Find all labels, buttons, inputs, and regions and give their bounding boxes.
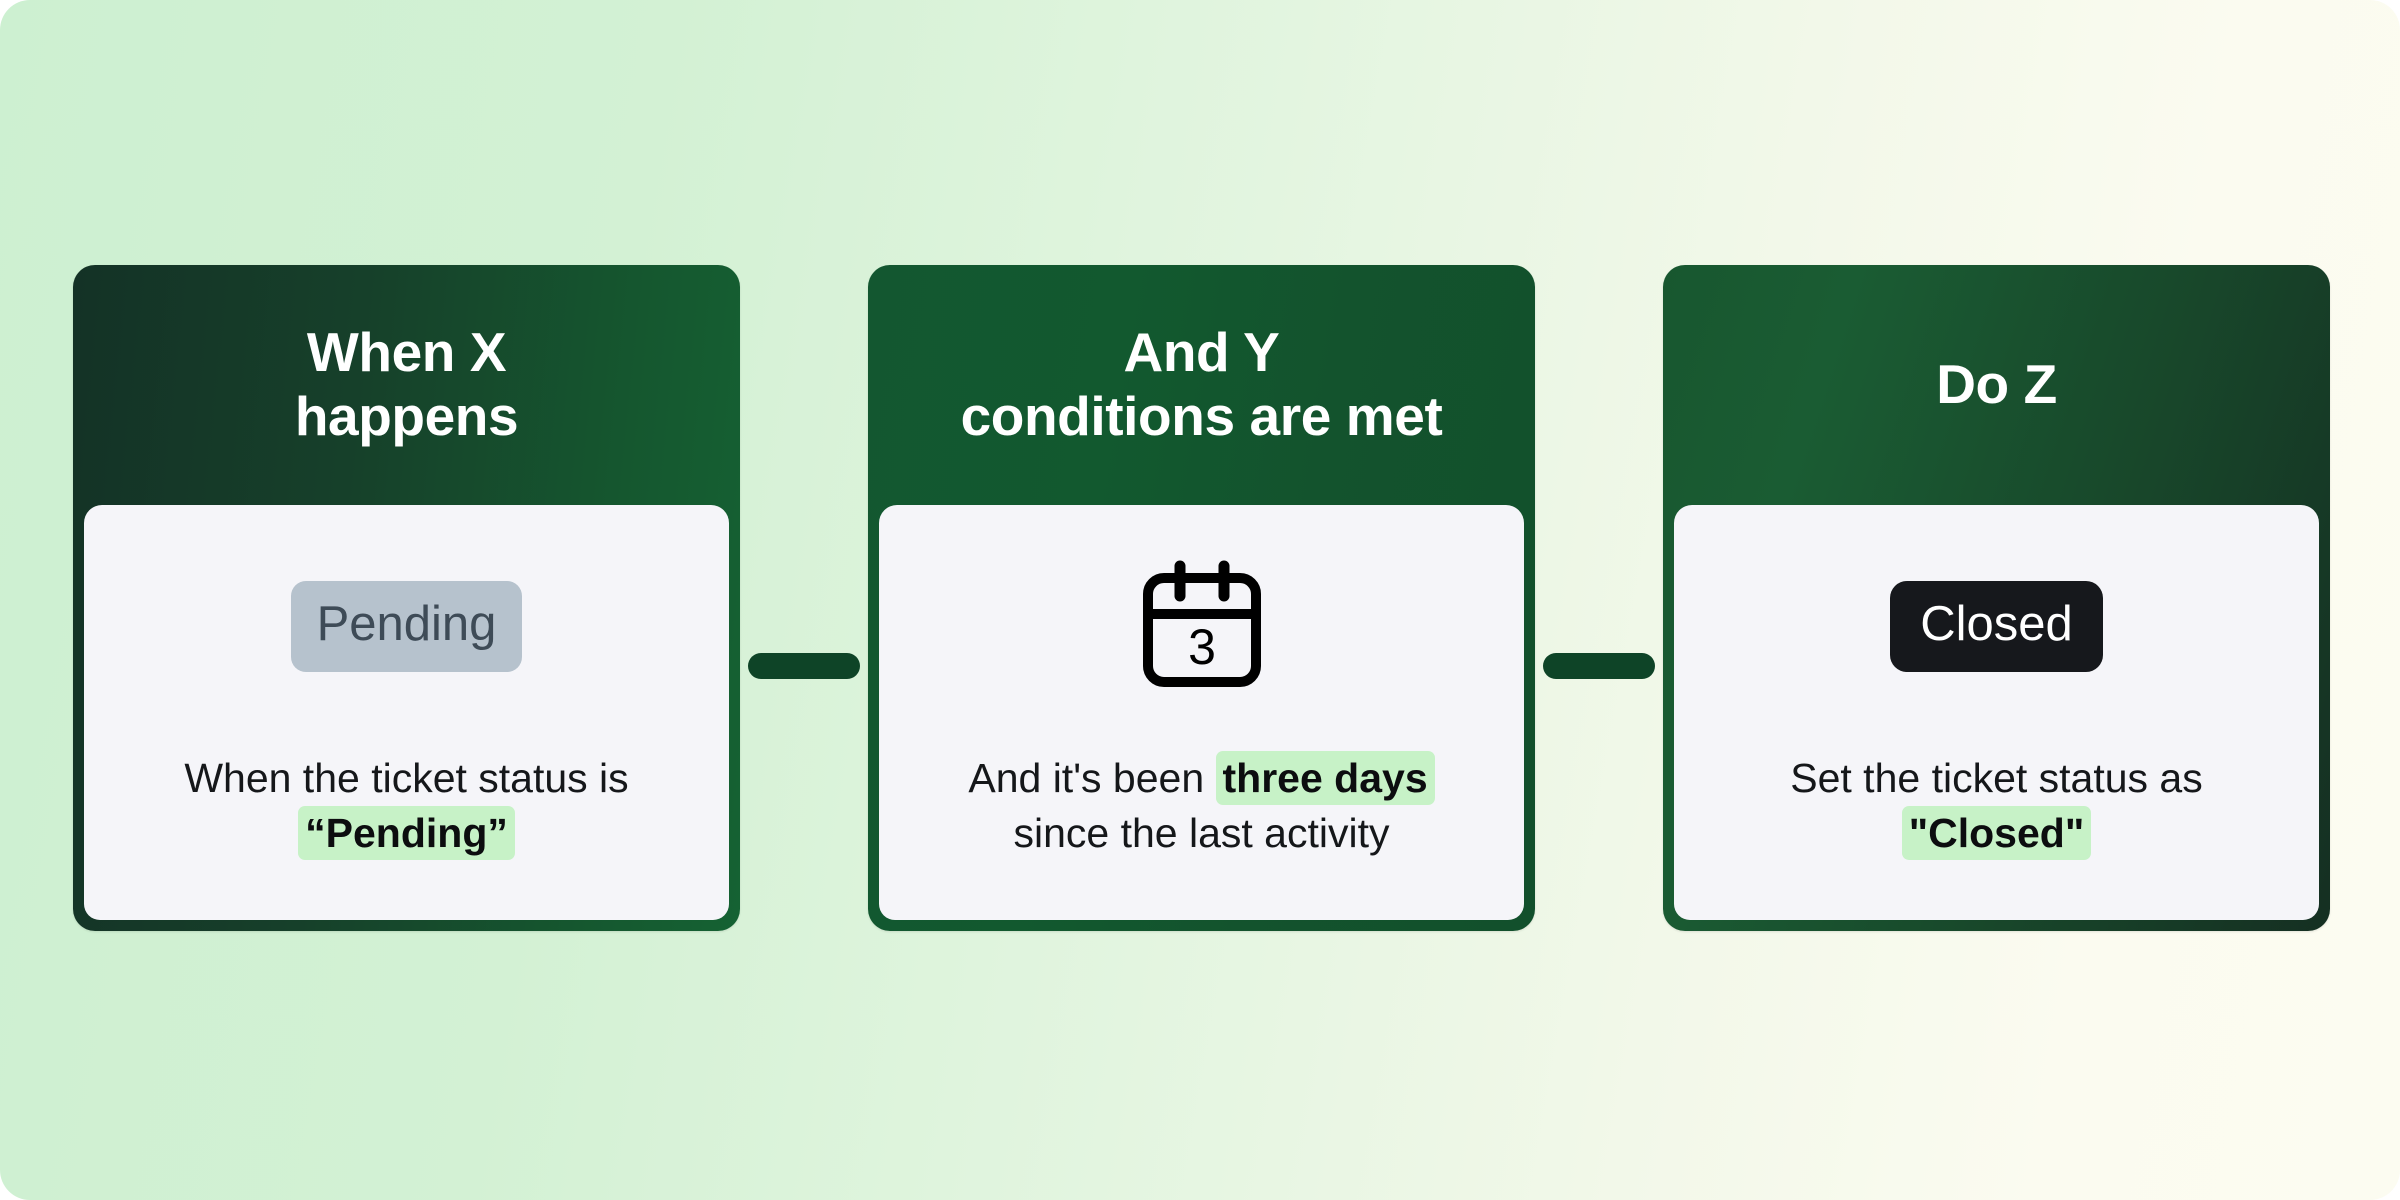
card-body-3: Closed Set the ticket status as "Closed" (1674, 505, 2319, 920)
calendar-day-number: 3 (1188, 619, 1216, 675)
description-highlight-3: "Closed" (1902, 806, 2092, 860)
card-header-1: When X happens (84, 265, 729, 505)
description-prefix-3: Set the ticket status as (1790, 755, 2202, 801)
card-text-1: When the ticket status is “Pending” (127, 701, 687, 876)
card-body-1: Pending When the ticket status is “Pendi… (84, 505, 729, 920)
card-description-1: When the ticket status is “Pending” (127, 751, 687, 860)
card-header-2: And Y conditions are met (879, 265, 1524, 505)
card-text-2: And it's been three days since the last … (922, 701, 1482, 876)
description-suffix-2: since the last activity (1014, 810, 1390, 856)
automation-flow-row: When X happens Pending When the ticket s… (73, 265, 2330, 931)
status-badge-pending[interactable]: Pending (291, 581, 523, 672)
card-header-title-1: When X happens (295, 321, 518, 449)
card-body-2: 3 And it's been three days since the las… (879, 505, 1524, 920)
card-header-title-2: And Y conditions are met (961, 321, 1443, 449)
description-prefix-2: And it's been (968, 755, 1215, 801)
card-description-3: Set the ticket status as "Closed" (1717, 751, 2277, 860)
flow-step-card-2[interactable]: And Y conditions are met 3 And it's been… (868, 265, 1535, 931)
card-text-3: Set the ticket status as "Closed" (1717, 701, 2277, 876)
card-header-title-3: Do Z (1936, 353, 2057, 417)
card-visual-3: Closed (1890, 551, 2103, 701)
card-description-2: And it's been three days since the last … (922, 751, 1482, 860)
card-header-3: Do Z (1674, 265, 2319, 505)
connector-2-3 (1543, 653, 1655, 679)
card-visual-2: 3 (1138, 551, 1266, 701)
flow-step-card-1[interactable]: When X happens Pending When the ticket s… (73, 265, 740, 931)
card-visual-1: Pending (291, 551, 523, 701)
flow-step-card-3[interactable]: Do Z Closed Set the ticket status as "Cl… (1663, 265, 2330, 931)
description-prefix-1: When the ticket status is (184, 755, 628, 801)
calendar-icon: 3 (1138, 560, 1266, 692)
connector-1-2 (748, 653, 860, 679)
description-highlight-1: “Pending” (298, 806, 515, 860)
status-badge-closed[interactable]: Closed (1890, 581, 2103, 672)
description-highlight-2: three days (1216, 751, 1435, 805)
diagram-canvas: When X happens Pending When the ticket s… (0, 0, 2400, 1200)
